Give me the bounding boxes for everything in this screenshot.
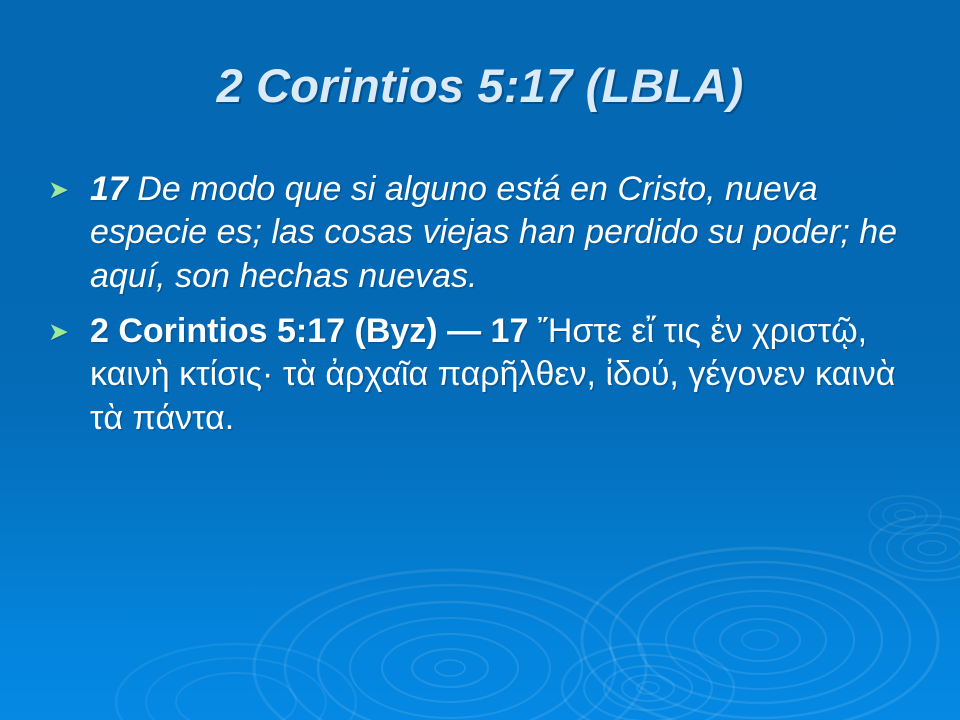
presentation-slide: 2 Corintios 5:17 (LBLA) ➤ 17 De modo que… <box>0 0 960 720</box>
verse-number-byz: 17 <box>491 312 529 350</box>
bullet-item-lbla: ➤ 17 De modo que si alguno está en Crist… <box>48 168 924 298</box>
arrowhead-bullet-icon: ➤ <box>48 168 90 203</box>
arrowhead-bullet-icon: ➤ <box>48 310 90 345</box>
reference-separator-dash: — <box>447 312 481 350</box>
slide-body: ➤ 17 De modo que si alguno está en Crist… <box>48 168 924 452</box>
verse-reference-byz: 2 Corintios 5:17 (Byz) <box>90 312 438 350</box>
verse-number-lbla: 17 <box>90 170 128 208</box>
bullet-text-lbla: 17 De modo que si alguno está en Cristo,… <box>90 168 924 298</box>
slide-title: 2 Corintios 5:17 (LBLA) <box>0 58 960 113</box>
verse-body-lbla: De modo que si alguno está en Cristo, nu… <box>90 170 897 295</box>
bullet-text-byz: 2 Corintios 5:17 (Byz) — 17 Ἤστε εἴ τις … <box>90 310 924 440</box>
bullet-item-byz: ➤ 2 Corintios 5:17 (Byz) — 17 Ἤστε εἴ τι… <box>48 310 924 440</box>
